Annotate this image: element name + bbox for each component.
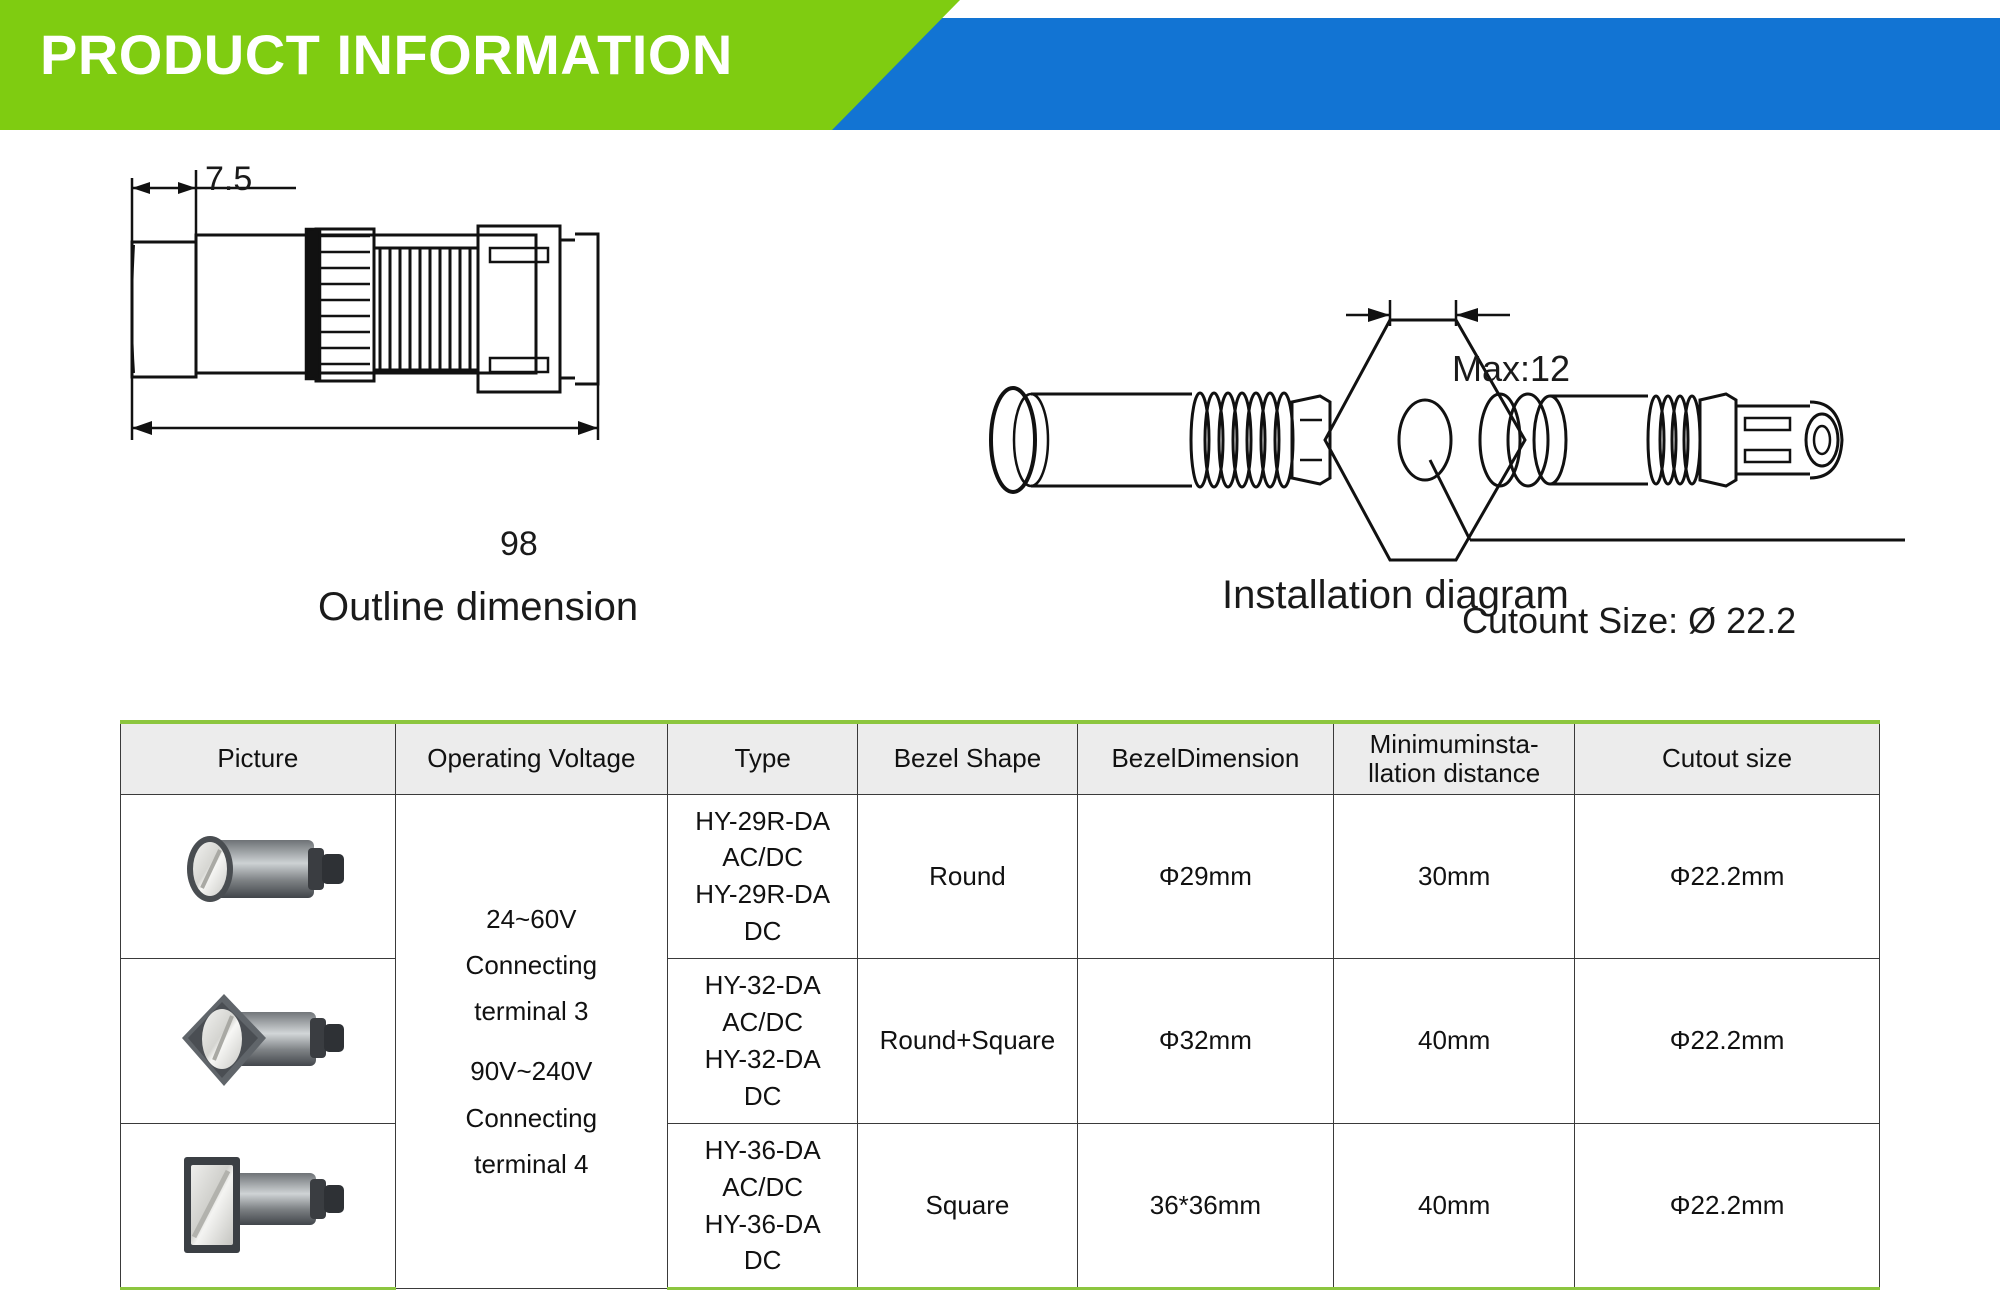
type-line-3: HY-29R-DA: [674, 876, 851, 913]
round-indicator-illustration: [158, 816, 358, 936]
product-picture-cell-square: [121, 1123, 396, 1289]
min-distance-cell: 30mm: [1334, 794, 1575, 959]
bezel-dimension-cell: 36*36mm: [1077, 1123, 1334, 1289]
min-distance-cell: 40mm: [1334, 1123, 1575, 1289]
bezel-dimension-cell: Φ32mm: [1077, 959, 1334, 1124]
column-header-type: Type: [667, 722, 857, 794]
square-indicator-illustration: [158, 1141, 358, 1271]
type-line-1: HY-29R-DA: [674, 803, 851, 840]
column-header-bezel-shape: Bezel Shape: [858, 722, 1077, 794]
operating-voltage-cell: 24~60V Connecting terminal 3 90V~240V Co…: [395, 794, 667, 1289]
outline-dimension-caption: Outline dimension: [318, 585, 638, 630]
technical-drawings-area: 7.5 98 Outline dimension: [0, 130, 2000, 690]
voltage-line-3: terminal 3: [402, 988, 661, 1034]
table-row: HY-32-DA AC/DC HY-32-DA DC Round+Square …: [121, 959, 1880, 1124]
cutout-size-cell: Φ22.2mm: [1575, 794, 1880, 959]
type-cell: HY-29R-DA AC/DC HY-29R-DA DC: [667, 794, 857, 959]
cutout-size-cell: Φ22.2mm: [1575, 959, 1880, 1124]
voltage-line-4: 90V~240V: [402, 1048, 661, 1094]
square-bezel-indicator-photo: [127, 1136, 389, 1276]
product-picture-cell-round: [121, 794, 396, 959]
bezel-dimension-cell: Φ29mm: [1077, 794, 1334, 959]
specification-table: Picture Operating Voltage Type Bezel Sha…: [120, 720, 1880, 1290]
column-header-picture: Picture: [121, 722, 396, 794]
voltage-line-5: Connecting: [402, 1095, 661, 1141]
bezel-shape-cell: Round+Square: [858, 959, 1077, 1124]
type-line-1: HY-32-DA: [674, 967, 851, 1004]
table-header-row: Picture Operating Voltage Type Bezel Sha…: [121, 722, 1880, 794]
type-line-2: AC/DC: [674, 1169, 851, 1206]
column-header-cutout-size: Cutout size: [1575, 722, 1880, 794]
bezel-shape-cell: Square: [858, 1123, 1077, 1289]
type-line-3: HY-36-DA: [674, 1206, 851, 1243]
cutout-size-cell: Φ22.2mm: [1575, 1123, 1880, 1289]
min-distance-cell: 40mm: [1334, 959, 1575, 1124]
product-picture-cell-round-square: [121, 959, 396, 1124]
type-line-2: AC/DC: [674, 839, 851, 876]
round-square-bezel-indicator-photo: [127, 971, 389, 1111]
voltage-line-2: Connecting: [402, 942, 661, 988]
voltage-line-6: terminal 4: [402, 1141, 661, 1187]
dimension-label-panel-thickness: Max:12: [1452, 348, 1570, 390]
column-header-operating-voltage: Operating Voltage: [395, 722, 667, 794]
installation-diagram-caption: Installation diagram: [1222, 573, 1569, 618]
page-title: PRODUCT INFORMATION: [40, 22, 733, 87]
installation-diagram-drawing: [0, 130, 2000, 590]
table-row: HY-36-DA AC/DC HY-36-DA DC Square 36*36m…: [121, 1123, 1880, 1289]
voltage-spacer: [402, 1034, 661, 1048]
type-line-1: HY-36-DA: [674, 1132, 851, 1169]
type-cell: HY-32-DA AC/DC HY-32-DA DC: [667, 959, 857, 1124]
table-row: 24~60V Connecting terminal 3 90V~240V Co…: [121, 794, 1880, 959]
bezel-shape-cell: Round: [858, 794, 1077, 959]
type-line-4: DC: [674, 913, 851, 950]
page-header-banner: PRODUCT INFORMATION: [0, 0, 2000, 130]
round-square-indicator-illustration: [158, 976, 358, 1106]
round-bezel-indicator-photo: [127, 806, 389, 946]
specification-table-wrapper: Picture Operating Voltage Type Bezel Sha…: [120, 720, 1880, 1290]
min-distance-header-line1: Minimuminsta-: [1370, 729, 1539, 759]
column-header-bezel-dimension: BezelDimension: [1077, 722, 1334, 794]
min-distance-header-line2: llation distance: [1368, 758, 1540, 788]
type-line-4: DC: [674, 1242, 851, 1279]
type-line-4: DC: [674, 1078, 851, 1115]
type-line-2: AC/DC: [674, 1004, 851, 1041]
voltage-line-1: 24~60V: [402, 896, 661, 942]
type-line-3: HY-32-DA: [674, 1041, 851, 1078]
type-cell: HY-36-DA AC/DC HY-36-DA DC: [667, 1123, 857, 1289]
column-header-min-installation-distance: Minimuminsta- llation distance: [1334, 722, 1575, 794]
